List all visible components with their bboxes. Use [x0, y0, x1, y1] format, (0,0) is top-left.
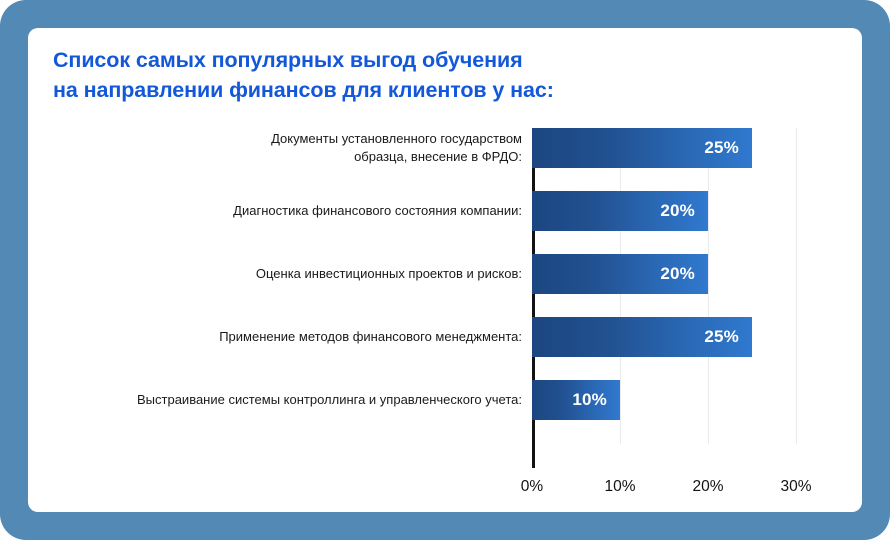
bar-value-label: 20%: [660, 264, 708, 284]
bar-value-label: 25%: [704, 138, 752, 158]
category-label: Выстраивание системы контроллинга и упра…: [137, 391, 522, 409]
category-label-wrap: Оценка инвестиционных проектов и рисков:: [48, 254, 522, 294]
bar-value-label: 10%: [572, 390, 620, 410]
bar: 20%: [532, 254, 708, 294]
category-label-wrap: Диагностика финансового состояния компан…: [48, 191, 522, 231]
gridline-20%: [708, 128, 709, 444]
bar: 25%: [532, 128, 752, 168]
x-tick-label: 10%: [590, 478, 650, 496]
bar-row: 25%: [532, 128, 752, 168]
bar-chart: 25%Документы установленного государством…: [28, 100, 862, 512]
page-title-line-1: Список самых популярных выгод обучения: [53, 46, 653, 76]
page-title: Список самых популярных выгод обучения н…: [53, 46, 653, 105]
bar: 25%: [532, 317, 752, 357]
x-tick-label: 30%: [766, 478, 826, 496]
chart-card: Список самых популярных выгод обучения н…: [28, 28, 862, 512]
category-label-wrap: Документы установленного государством об…: [48, 128, 522, 168]
category-label: Применение методов финансового менеджмен…: [219, 328, 522, 346]
outer-frame: Список самых популярных выгод обучения н…: [0, 0, 890, 540]
category-label: Документы установленного государством об…: [271, 130, 522, 167]
bar: 10%: [532, 380, 620, 420]
bar-row: 25%: [532, 317, 752, 357]
category-label-wrap: Выстраивание системы контроллинга и упра…: [48, 380, 522, 420]
bar: 20%: [532, 191, 708, 231]
category-label: Оценка инвестиционных проектов и рисков:: [256, 265, 522, 283]
bar-value-label: 20%: [660, 201, 708, 221]
bar-row: 20%: [532, 191, 708, 231]
bar-value-label: 25%: [704, 327, 752, 347]
category-label: Диагностика финансового состояния компан…: [233, 202, 522, 220]
x-tick-label: 20%: [678, 478, 738, 496]
x-tick-label: 0%: [502, 478, 562, 496]
bar-row: 20%: [532, 254, 708, 294]
bar-row: 10%: [532, 380, 620, 420]
category-label-wrap: Применение методов финансового менеджмен…: [48, 317, 522, 357]
gridline-30%: [796, 128, 797, 444]
